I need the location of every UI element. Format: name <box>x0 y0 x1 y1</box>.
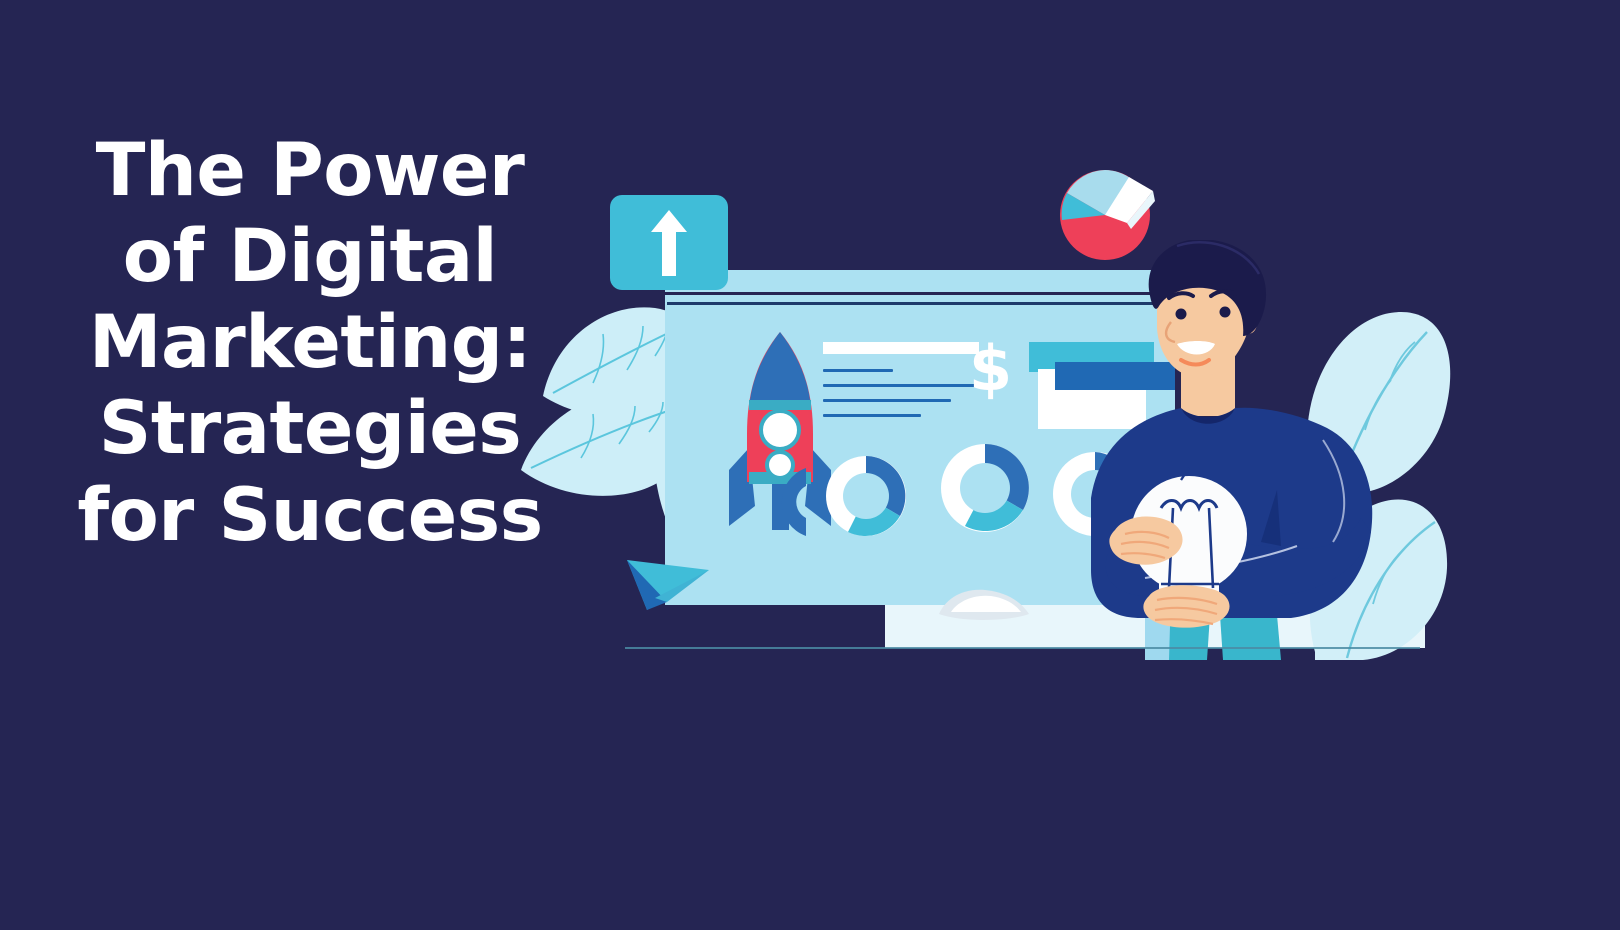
up-arrow-icon <box>651 210 687 276</box>
donut-chart-1 <box>820 450 912 542</box>
donut-chart-2 <box>935 438 1035 538</box>
right-eye <box>1220 307 1231 318</box>
dashboard-text-lines <box>823 342 983 429</box>
person-illustration <box>1085 240 1425 660</box>
text-line <box>823 414 921 417</box>
banner-canvas: The Power of Digital Marketing: Strategi… <box>0 0 1620 930</box>
text-line-heading <box>823 342 979 354</box>
donut-chart-4 <box>752 462 812 542</box>
text-line <box>823 369 893 372</box>
ground-line <box>625 647 1420 649</box>
dollar-icon: $ <box>969 338 1012 400</box>
hero-illustration: $ <box>555 150 1455 670</box>
lower-hand <box>1143 585 1229 627</box>
page-title: The Power of Digital Marketing: Strategi… <box>60 128 560 559</box>
left-eye <box>1176 309 1187 320</box>
text-line <box>823 399 951 402</box>
cloud-icon <box>933 582 1053 622</box>
paper-plane-icon <box>627 558 709 614</box>
text-line <box>823 384 979 387</box>
